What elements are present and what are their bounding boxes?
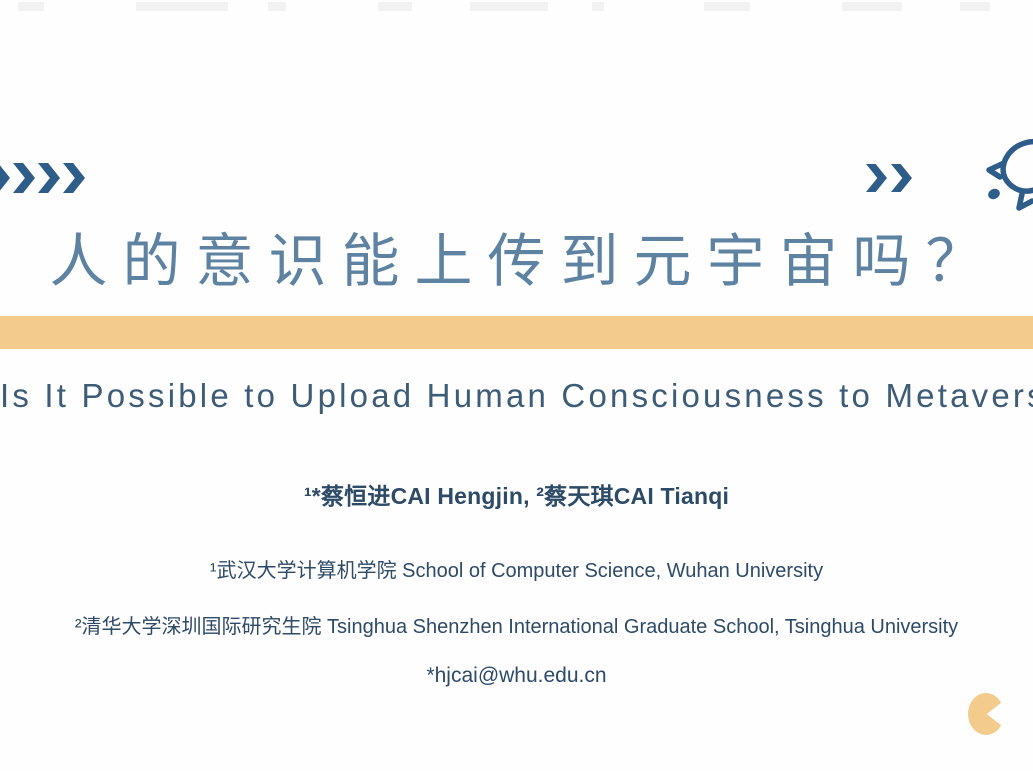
affiliation-line-1: ¹武汉大学计算机学院 School of Computer Science, W… xyxy=(0,554,1033,583)
presentation-title-slide: 人的意识能上传到元宇宙吗？ Is It Possible to Upload H… xyxy=(0,0,1033,771)
rocket-icon xyxy=(975,132,1033,218)
orange-divider-band xyxy=(0,316,1033,349)
pacman-accent-icon xyxy=(968,693,1004,735)
chevron-decoration-left xyxy=(0,163,88,193)
chevron-right-icon xyxy=(63,163,85,193)
chevron-decoration-right xyxy=(866,164,916,192)
author-list: ¹*蔡恒进CAI Hengjin, ²蔡天琪CAI Tianqi xyxy=(0,477,1033,511)
chevron-right-icon xyxy=(891,164,912,192)
affiliation-line-2: ²清华大学深圳国际研究生院 Tsinghua Shenzhen Internat… xyxy=(0,610,1033,639)
contact-email: *hjcai@whu.edu.cn xyxy=(0,664,1033,688)
slide-title-chinese: 人的意识能上传到元宇宙吗？ xyxy=(0,222,1033,300)
chevron-right-icon xyxy=(38,163,60,193)
top-edge-artifacts xyxy=(0,0,1033,13)
chevron-right-icon xyxy=(0,163,10,193)
chevron-right-icon xyxy=(866,164,887,192)
slide-subtitle-english: Is It Possible to Upload Human Conscious… xyxy=(0,373,1033,419)
chevron-right-icon xyxy=(13,163,35,193)
